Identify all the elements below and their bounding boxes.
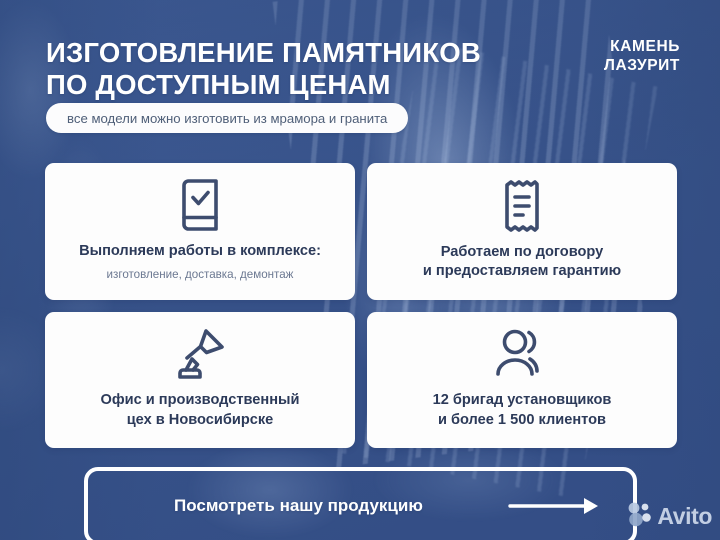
avito-wordmark: Avito	[657, 503, 712, 530]
desk-lamp-icon	[173, 325, 227, 383]
arrow-right-icon	[508, 495, 604, 517]
view-products-label: Посмотреть нашу продукцию	[174, 496, 423, 516]
feature-card[interactable]: Выполняем работы в комплексе: изготовлен…	[45, 163, 355, 300]
feature-card[interactable]: 12 бригад установщиков и более 1 500 кли…	[367, 312, 677, 449]
view-products-button[interactable]: Посмотреть нашу продукцию	[84, 467, 637, 540]
book-check-icon	[177, 176, 223, 234]
feature-card-subtitle: изготовление, доставка, демонтаж	[107, 267, 294, 282]
feature-card-title: Офис и производственный цех в Новосибирс…	[101, 391, 300, 430]
feature-card-grid: Выполняем работы в комплексе: изготовлен…	[45, 163, 677, 448]
subtitle-pill: все модели можно изготовить из мрамора и…	[46, 103, 408, 133]
feature-card[interactable]: Офис и производственный цех в Новосибирс…	[45, 312, 355, 449]
feature-card-title: Работаем по договору и предоставляем гар…	[423, 243, 621, 282]
header: ИЗГОТОВЛЕНИЕ ПАМЯТНИКОВ ПО ДОСТУПНЫМ ЦЕН…	[0, 0, 720, 150]
avito-dots-icon	[626, 501, 652, 532]
brand-logo-text: КАМЕНЬ ЛАЗУРИТ	[604, 38, 680, 75]
people-group-icon	[494, 325, 550, 383]
feature-card-title: 12 бригад установщиков и более 1 500 кли…	[433, 391, 612, 430]
page-title: ИЗГОТОВЛЕНИЕ ПАМЯТНИКОВ ПО ДОСТУПНЫМ ЦЕН…	[46, 37, 481, 101]
avito-watermark: Avito	[626, 501, 712, 532]
feature-card-title: Выполняем работы в комплексе:	[79, 242, 321, 262]
feature-card[interactable]: Работаем по договору и предоставляем гар…	[367, 163, 677, 300]
subtitle-text: все модели можно изготовить из мрамора и…	[67, 111, 387, 126]
receipt-contract-icon	[500, 177, 544, 235]
